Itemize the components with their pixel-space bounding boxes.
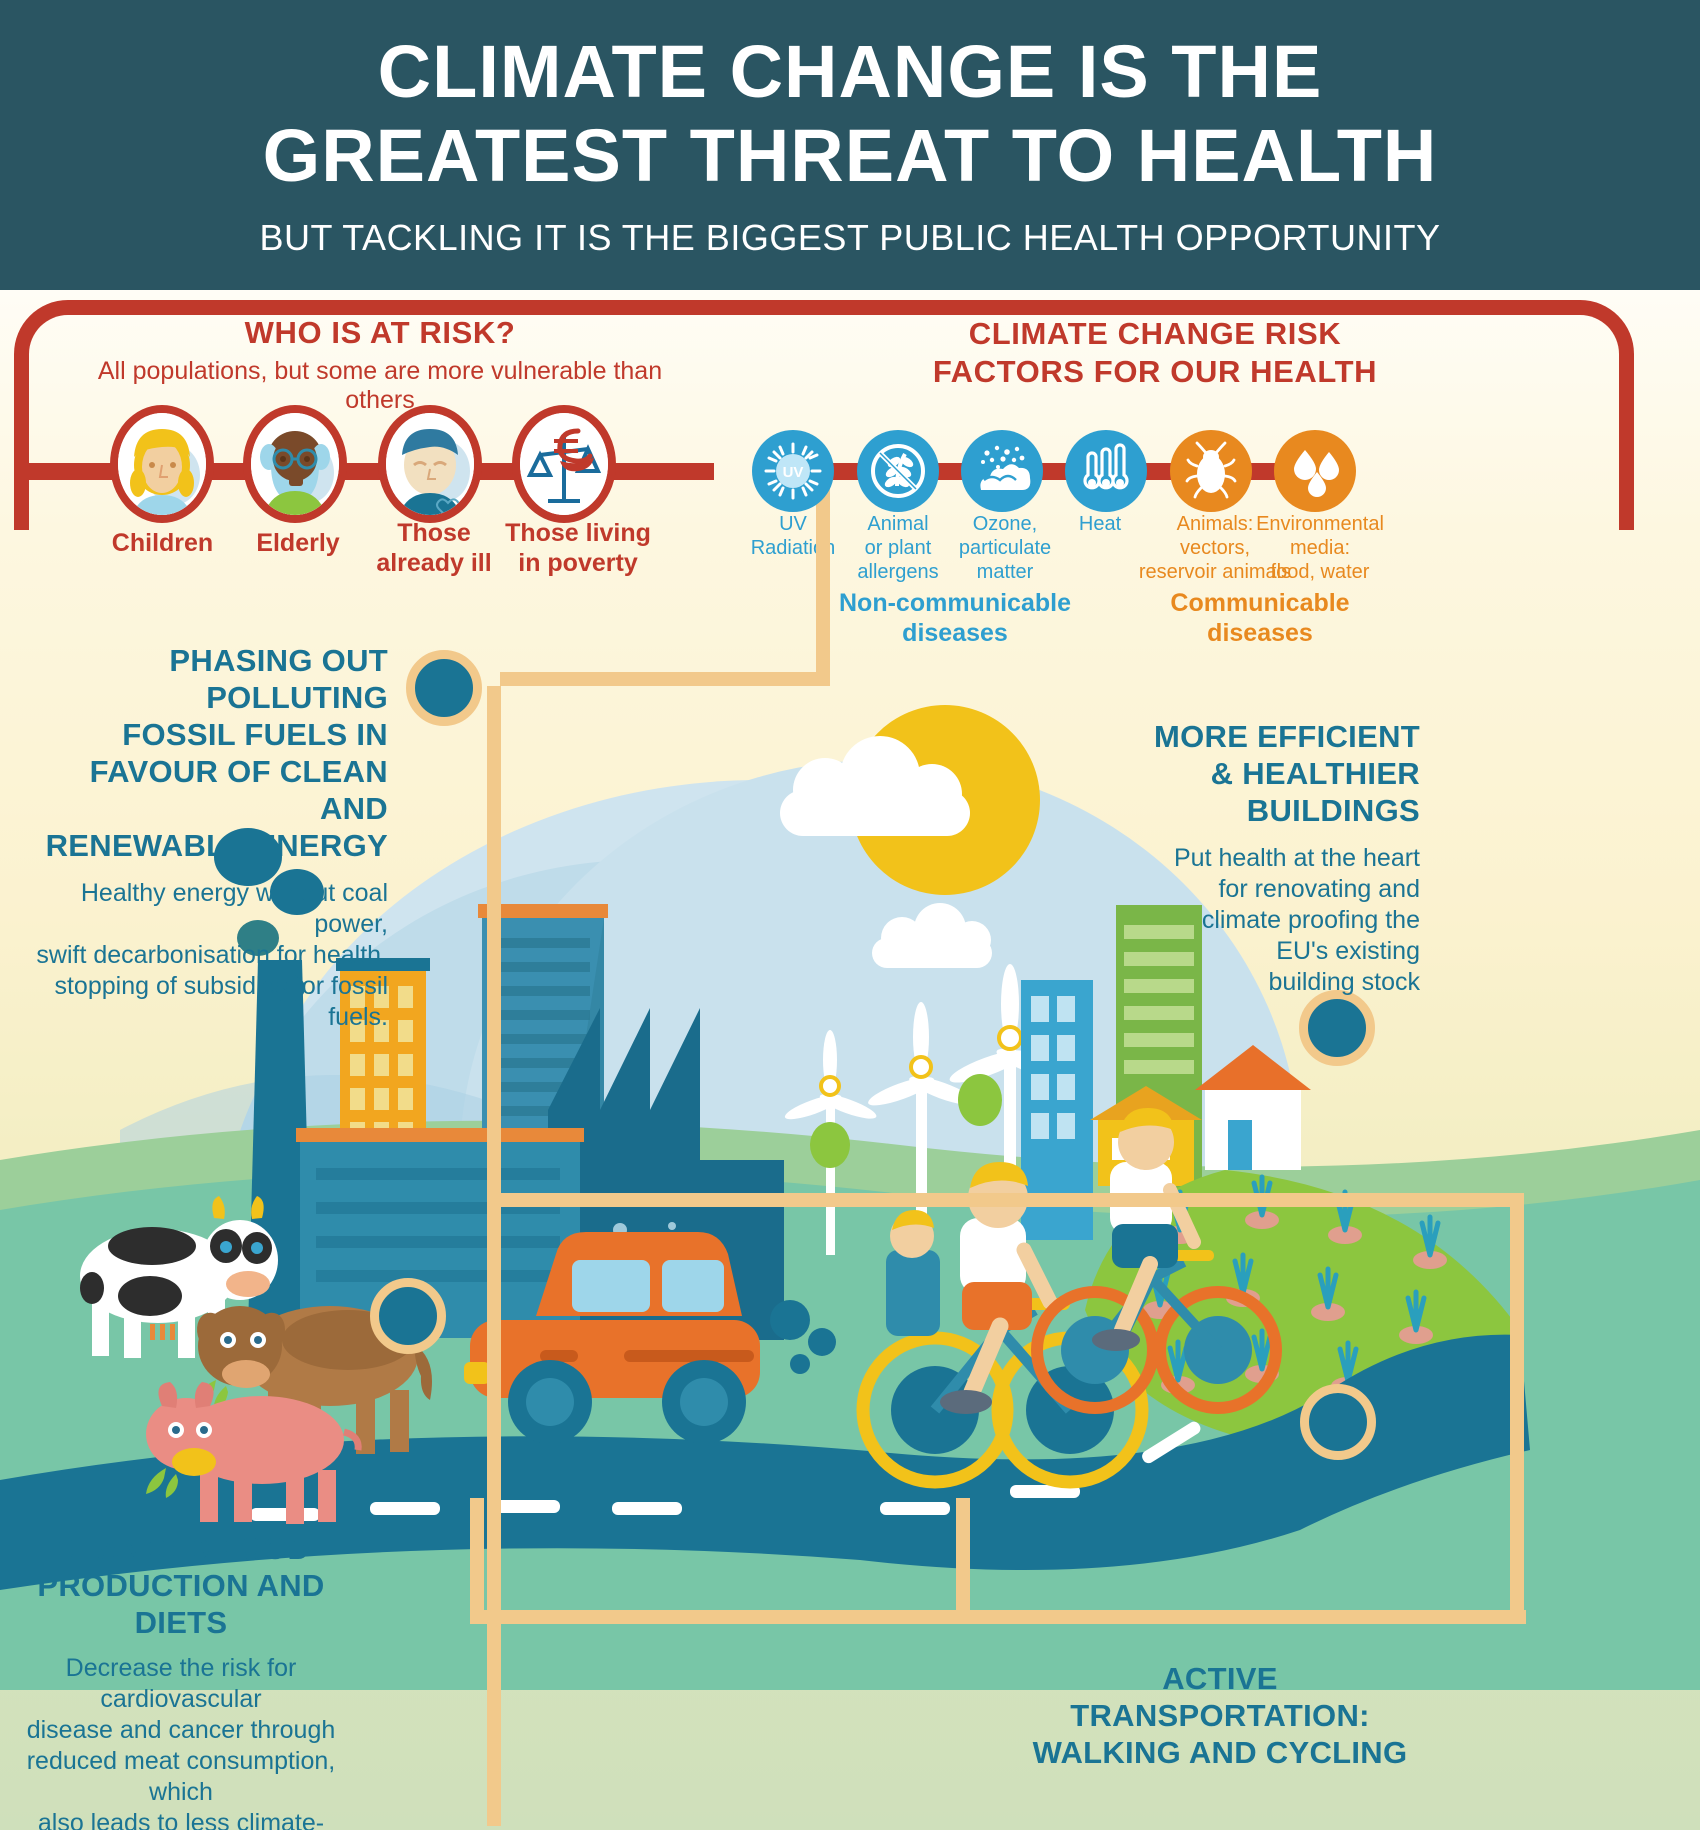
title-line: CHANGED FOOD <box>0 1530 362 1567</box>
header-subtitle: BUT TACKLING IT IS THE BIGGEST PUBLIC HE… <box>260 216 1441 260</box>
risk-factor-label-env-media: Environmental media: food, water <box>1230 512 1410 584</box>
risk-label-poverty-line2: in poverty <box>480 548 676 578</box>
title-line: BUILDINGS <box>1150 792 1420 829</box>
risk-factors-heading-line2: FACTORS FOR OUR HEALTH <box>855 353 1455 391</box>
risk-group-elderly[interactable] <box>243 405 347 523</box>
solution-block-transport: ACTIVE TRANSPORTATION: WALKING AND CYCLI… <box>1010 1660 1430 1771</box>
svg-text:UV: UV <box>783 464 804 481</box>
allergen-plant-icon <box>867 440 929 502</box>
risk-label-poverty: Those living in poverty <box>480 518 676 578</box>
header-banner: CLIMATE CHANGE IS THE GREATEST THREAT TO… <box>0 0 1700 290</box>
title-line: RENEWABLE ENERGY <box>20 827 388 864</box>
risk-factors-heading-line1: CLIMATE CHANGE RISK <box>855 315 1455 353</box>
label-line: Environmental <box>1230 512 1410 536</box>
body-line: Healthy energy without coal power, <box>20 878 388 940</box>
label-line: diseases <box>830 618 1080 648</box>
title-line: WALKING AND CYCLING <box>1010 1734 1430 1771</box>
who-at-risk-heading: WHO IS AT RISK? <box>70 315 690 351</box>
body-line: disease and cancer through <box>0 1715 362 1746</box>
solution-body-buildings: Put health at the heart for renovating a… <box>1150 843 1420 998</box>
solution-title-food: CHANGED FOOD PRODUCTION AND DIETS <box>0 1530 362 1641</box>
title-line: FOSSIL FUELS IN <box>20 716 388 753</box>
scales-euro-icon <box>520 413 610 517</box>
child-avatar-icon <box>118 413 208 517</box>
body-line: building stock <box>1150 967 1420 998</box>
pipe-bottom-horizontal <box>470 1610 1526 1624</box>
category-non-communicable: Non-communicable diseases <box>830 588 1080 648</box>
title-line: ACTIVE TRANSPORTATION: <box>1010 1660 1430 1734</box>
body-line: Put health at the heart <box>1150 843 1420 874</box>
pipe-lower-left-vertical <box>470 1498 484 1620</box>
pipe-mid-horizontal <box>494 1193 1524 1207</box>
solution-block-fossil-fuels: PHASING OUT POLLUTING FOSSIL FUELS IN FA… <box>20 642 388 1033</box>
risk-factor-animals[interactable] <box>1170 430 1252 512</box>
body-line: reduced meat consumption, which <box>0 1746 362 1808</box>
body-line: for renovating and <box>1150 874 1420 905</box>
pipe-node-transport[interactable] <box>1300 1384 1376 1460</box>
who-at-risk-heading-block: WHO IS AT RISK? All populations, but som… <box>70 315 690 415</box>
risk-group-poverty[interactable] <box>512 405 616 523</box>
tree-icon <box>958 1074 1002 1126</box>
label-line: media: <box>1230 536 1410 560</box>
ozone-cloud-icon <box>971 440 1033 502</box>
risk-factor-environmental-media[interactable] <box>1274 430 1356 512</box>
solution-title-transport: ACTIVE TRANSPORTATION: WALKING AND CYCLI… <box>1010 1660 1430 1771</box>
label-line: matter <box>931 560 1079 584</box>
pipe-top-horizontal <box>500 672 830 686</box>
label-line: particulate <box>931 536 1079 560</box>
title-line: MORE EFFICIENT <box>1150 718 1420 755</box>
risk-factor-heat[interactable] <box>1065 430 1147 512</box>
pipe-node-buildings[interactable] <box>1299 990 1375 1066</box>
body-line: Decrease the risk for cardiovascular <box>0 1653 362 1715</box>
solution-block-buildings: MORE EFFICIENT & HEALTHIER BUILDINGS Put… <box>1150 718 1420 998</box>
bug-vector-icon <box>1180 440 1242 502</box>
elderly-avatar-icon <box>251 413 341 517</box>
solution-title-buildings: MORE EFFICIENT & HEALTHIER BUILDINGS <box>1150 718 1420 829</box>
label-line: food, water <box>1230 560 1410 584</box>
risk-factor-ozone[interactable] <box>961 430 1043 512</box>
water-drops-icon <box>1284 440 1346 502</box>
pipe-top-vertical <box>816 478 830 678</box>
pipe-node-fossil-fuels[interactable] <box>406 650 482 726</box>
infographic-root: CLIMATE CHANGE IS THE GREATEST THREAT TO… <box>0 0 1700 1830</box>
body-line: also leads to less climate-harming <box>0 1808 362 1830</box>
label-line: Non-communicable <box>830 588 1080 618</box>
risk-group-children[interactable] <box>110 405 214 523</box>
header-title-line1: CLIMATE CHANGE IS THE <box>378 30 1323 114</box>
header-title-line2: GREATEST THREAT TO HEALTH <box>263 114 1438 198</box>
risk-factors-heading-block: CLIMATE CHANGE RISK FACTORS FOR OUR HEAL… <box>855 315 1455 391</box>
title-line: PRODUCTION AND DIETS <box>0 1567 362 1641</box>
uv-sun-icon: UV <box>762 440 824 502</box>
thermometer-icon <box>1075 440 1137 502</box>
solution-title-fossil-fuels: PHASING OUT POLLUTING FOSSIL FUELS IN FA… <box>20 642 388 864</box>
risk-group-already-ill[interactable] <box>378 405 482 523</box>
body-line: EU's existing <box>1150 936 1420 967</box>
pipe-right-vertical <box>1510 1193 1524 1623</box>
pipe-node-food[interactable] <box>370 1278 446 1354</box>
category-communicable: Communicable diseases <box>1148 588 1372 648</box>
pipe-left-vertical <box>487 686 501 1826</box>
title-line: FAVOUR OF CLEAN AND <box>20 753 388 827</box>
pipe-lower-center-vertical <box>956 1498 970 1622</box>
title-line: PHASING OUT POLLUTING <box>20 642 388 716</box>
red-connector-bar-right <box>760 463 1340 480</box>
solution-block-food: CHANGED FOOD PRODUCTION AND DIETS Decrea… <box>0 1530 362 1830</box>
title-line: & HEALTHIER <box>1150 755 1420 792</box>
tree-icon <box>810 1122 850 1168</box>
solution-body-food: Decrease the risk for cardiovascular dis… <box>0 1653 362 1830</box>
body-line: stopping of subsidies for fossil fuels. <box>20 971 388 1033</box>
risk-factor-uv-radiation[interactable]: UV <box>752 430 834 512</box>
ill-person-avatar-icon <box>386 413 476 517</box>
label-line: Communicable <box>1148 588 1372 618</box>
body-line: climate proofing the <box>1150 905 1420 936</box>
risk-label-poverty-line1: Those living <box>480 518 676 548</box>
solution-body-fossil-fuels: Healthy energy without coal power, swift… <box>20 878 388 1033</box>
label-line: diseases <box>1148 618 1372 648</box>
risk-factor-allergens[interactable] <box>857 430 939 512</box>
body-line: swift decarbonisation for health, <box>20 940 388 971</box>
